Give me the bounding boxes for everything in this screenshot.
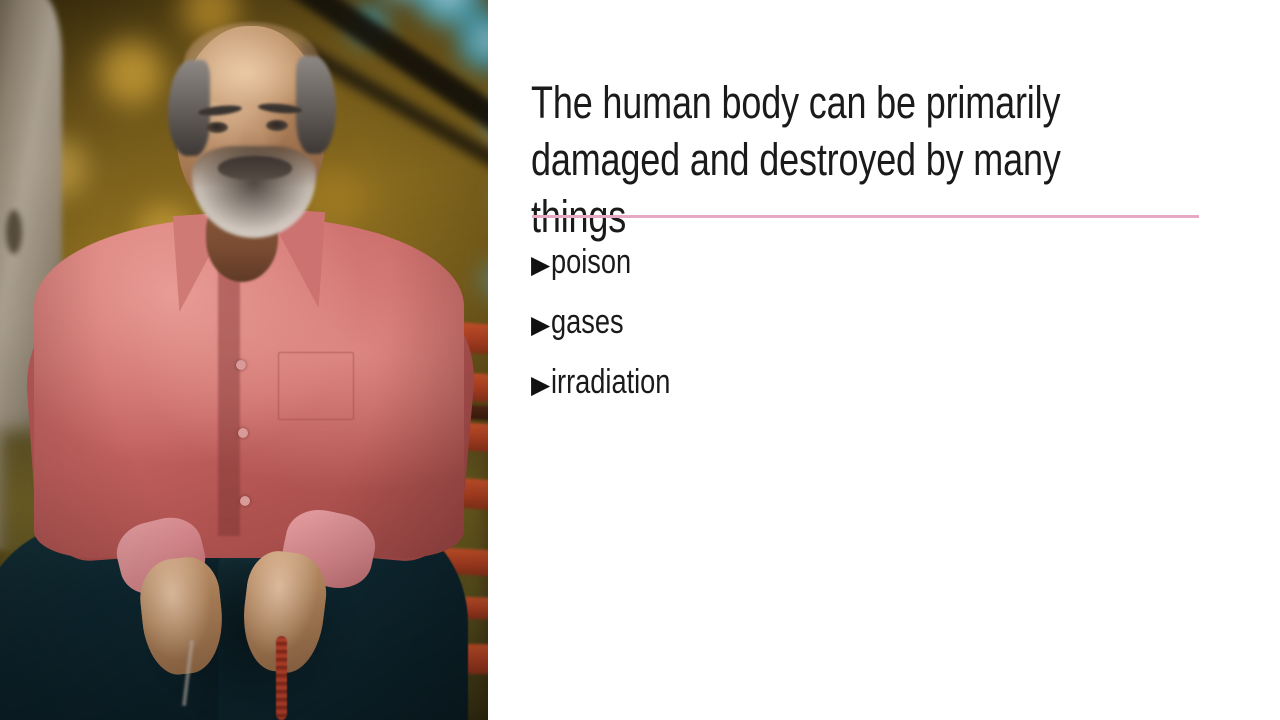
shirt-button bbox=[240, 496, 250, 506]
slide-content: The human body can be primarily damaged … bbox=[531, 0, 1231, 720]
bullet-item-gases: ▶ gases bbox=[531, 292, 1231, 352]
shirt-pocket bbox=[278, 352, 354, 420]
slide-photo bbox=[0, 0, 488, 720]
shirt-button bbox=[236, 360, 246, 370]
bullet-label: poison bbox=[551, 232, 631, 292]
bullet-item-poison: ▶ poison bbox=[531, 232, 1231, 292]
mustache bbox=[218, 156, 292, 180]
triangle-bullet-icon: ▶ bbox=[531, 355, 550, 415]
triangle-bullet-icon: ▶ bbox=[531, 295, 550, 355]
eye-left bbox=[206, 122, 228, 133]
eye-right bbox=[266, 120, 288, 131]
prayer-beads bbox=[276, 636, 287, 720]
bullet-item-irradiation: ▶ irradiation bbox=[531, 352, 1231, 412]
slide: The human body can be primarily damaged … bbox=[0, 0, 1280, 720]
bullet-list: ▶ poison ▶ gases ▶ irradiation bbox=[531, 232, 1231, 412]
triangle-bullet-icon: ▶ bbox=[531, 235, 550, 295]
bullet-label: irradiation bbox=[551, 352, 670, 412]
shirt-button bbox=[238, 428, 248, 438]
title-divider bbox=[532, 215, 1199, 218]
bullet-label: gases bbox=[551, 292, 624, 352]
slide-title: The human body can be primarily damaged … bbox=[531, 74, 1091, 245]
